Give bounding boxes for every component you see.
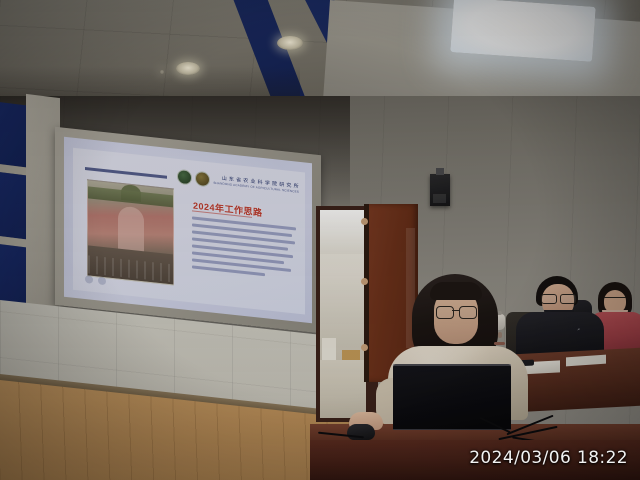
glasses-bridge [452, 310, 459, 311]
speaker-bracket [436, 168, 444, 175]
lens-right [459, 306, 477, 319]
slide-top-rule [85, 167, 167, 179]
door-hinge-icon [361, 218, 368, 225]
lens-left [541, 294, 557, 304]
wall-speaker [430, 174, 450, 206]
door-hinge-icon [361, 278, 368, 285]
ceiling-light-panel-icon [450, 0, 595, 62]
presentation-slide: 山 东 省 农 业 科 学 院 研 究 所 SHANDONG ACADEMY O… [73, 148, 305, 315]
blue-panel [0, 172, 28, 240]
speaker-grill [433, 194, 446, 203]
projection-screen: 山 东 省 农 业 科 学 院 研 究 所 SHANDONG ACADEMY O… [64, 137, 312, 324]
slide-mark-icon [98, 276, 106, 285]
blue-panel [0, 102, 28, 168]
university-emblem-icon [177, 169, 192, 186]
mouth [494, 342, 505, 345]
slide-title: 2024年工作思路 [193, 199, 263, 219]
meeting-room-photo: 山 东 省 农 业 科 学 院 研 究 所 SHANDONG ACADEMY O… [0, 0, 640, 480]
corridor-floor [320, 360, 366, 418]
nose [498, 332, 502, 338]
corridor-beyond-door [320, 210, 366, 418]
projection-screen-frame: 山 东 省 农 业 科 学 院 研 究 所 SHANDONG ACADEMY O… [55, 127, 321, 333]
slide-header-logos: 山 东 省 农 业 科 学 院 研 究 所 SHANDONG ACADEMY O… [177, 169, 299, 197]
slide-body-text [192, 216, 296, 283]
glasses-icon [436, 306, 476, 317]
lens-right [560, 294, 576, 304]
downlight-icon [160, 70, 164, 74]
slide-footer-marks [85, 275, 106, 285]
institute-emblem-icon [195, 171, 210, 188]
glasses-icon [541, 294, 575, 302]
door-hinge-strip [364, 204, 369, 382]
door-hinge-icon [361, 344, 368, 351]
glasses-icon [604, 297, 626, 304]
laptop[interactable] [393, 364, 511, 430]
downlight-icon [277, 36, 303, 50]
lens-left [436, 306, 454, 319]
slide-building-photo [87, 179, 174, 285]
laptop-screen-edge [393, 364, 511, 366]
hair-fringe [430, 282, 482, 300]
slide-mark-icon [85, 275, 93, 284]
timestamp-overlay: 2024/03/06 18:22 [469, 448, 628, 468]
jacket-logo-icon [572, 328, 586, 337]
corridor-ceiling [320, 210, 366, 254]
downlight-icon [176, 62, 200, 75]
